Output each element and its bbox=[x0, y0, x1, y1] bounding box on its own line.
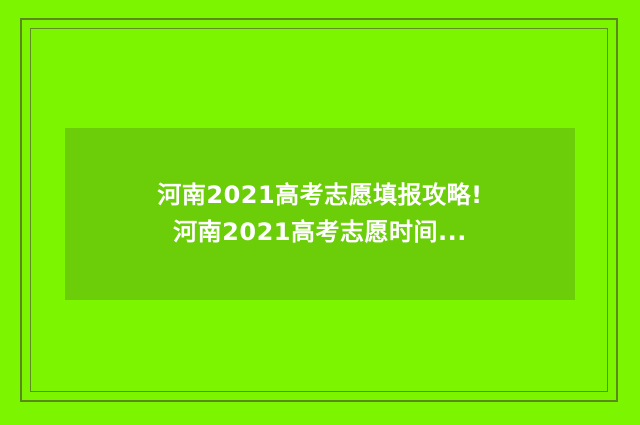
poster-canvas: 河南2021高考志愿填报攻略! 河南2021高考志愿时间... bbox=[0, 0, 640, 425]
caption-band: 河南2021高考志愿填报攻略! 河南2021高考志愿时间... bbox=[65, 128, 575, 300]
caption-line-1: 河南2021高考志愿填报攻略! bbox=[157, 177, 482, 214]
caption-line-2: 河南2021高考志愿时间... bbox=[173, 214, 467, 251]
